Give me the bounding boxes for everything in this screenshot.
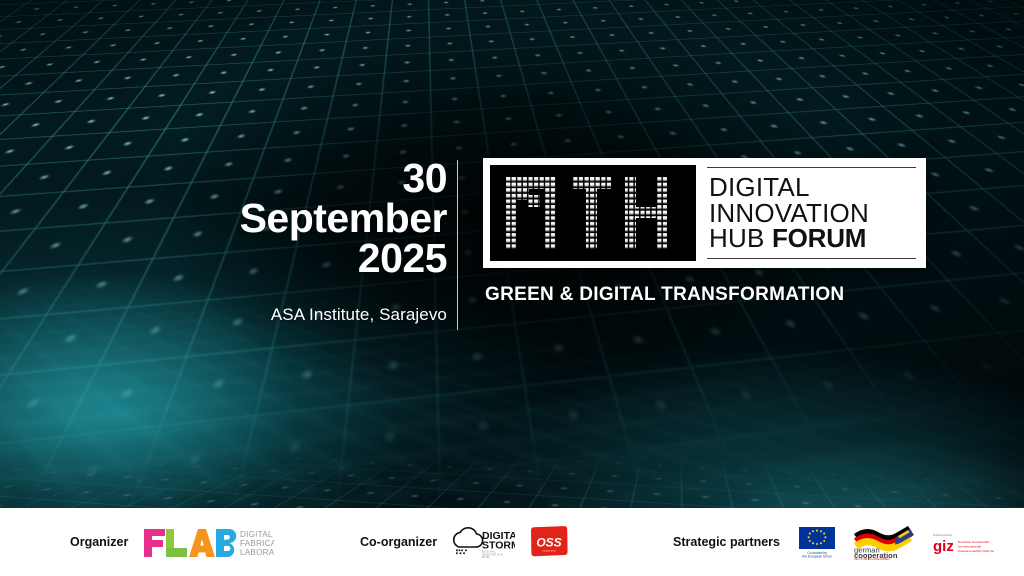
giz-top-caption: Implemented by: [933, 533, 953, 537]
eu-caption-line-2: the European Union: [802, 555, 831, 559]
hero-section: 30 September 2025 ASA Institute, Sarajev…: [0, 158, 1024, 330]
event-banner: 30 September 2025 ASA Institute, Sarajev…: [0, 0, 1024, 576]
event-date: 30 September 2025: [0, 158, 447, 279]
logo-column: DIGITAL INNOVATION HUB FORUM GREEN & DIG…: [483, 158, 953, 306]
forum-lines: DIGITAL INNOVATION HUB FORUM: [707, 173, 916, 253]
forum-line-hub-forum: HUB FORUM: [709, 226, 916, 252]
coorganizer-logos: DIGITAL STORM DIGITAL INNOVATION HUB OSS…: [451, 525, 571, 559]
partner-group-coorganizer: Co-organizer DIGITAL STORM DI: [360, 525, 571, 559]
organizer-label: Organizer: [70, 535, 128, 549]
flab-logo-icon: FLAB DIGITAL FABRICATION LABORATORY: [142, 524, 274, 560]
date-month: September: [0, 198, 447, 238]
forum-forum: FORUM: [772, 223, 866, 253]
dih-mark: [490, 165, 696, 261]
forum-hub: HUB: [709, 223, 765, 253]
german-cooperation-logo-icon: german cooperation DEUTSCHE ZUSAMMENARBE…: [852, 524, 920, 560]
digital-storm-logo-icon: DIGITAL STORM DIGITAL INNOVATION HUB: [451, 525, 515, 559]
date-day: 30: [0, 158, 447, 198]
forum-line-digital: DIGITAL: [709, 175, 916, 201]
flab-sub-line-1: DIGITAL: [240, 530, 273, 539]
flab-sub-line-3: LABORATORY: [240, 548, 274, 557]
forum-wordmark: DIGITAL INNOVATION HUB FORUM: [707, 165, 918, 261]
dih-forum-logo: DIGITAL INNOVATION HUB FORUM: [483, 158, 926, 268]
flab-sub-line-2: FABRICATION: [240, 539, 274, 548]
partner-group-organizer: Organizer FLAB: [70, 524, 274, 560]
oss-wordmark: OSS: [536, 536, 561, 550]
european-union-logo-icon: Co-funded by the European Union: [794, 525, 840, 559]
coorganizer-label: Co-organizer: [360, 535, 437, 549]
event-tagline: GREEN & DIGITAL TRANSFORMATION: [485, 284, 953, 306]
rule-top: [707, 167, 916, 168]
german-cooperation-sub: DEUTSCHE ZUSAMMENARBEIT: [854, 558, 891, 560]
event-date-block: 30 September 2025 ASA Institute, Sarajev…: [0, 158, 447, 325]
giz-side-line-2: für Internationale: [958, 544, 981, 548]
vertical-divider: [457, 160, 458, 330]
dih-dot-matrix-icon: [500, 171, 686, 255]
svg-text:HUB: HUB: [482, 555, 489, 559]
oss-logo-icon: OSS company: [527, 526, 571, 558]
giz-side-line-3: Zusammenarbeit (GIZ) GmbH: [958, 549, 994, 553]
giz-wordmark: giz: [933, 538, 954, 555]
strategic-partners-logos: Co-funded by the European Union german c…: [794, 524, 994, 560]
organizer-logos: FLAB DIGITAL FABRICATION LABORATORY: [142, 524, 274, 560]
giz-side-line-1: Deutsche Gesellschaft: [958, 540, 989, 544]
event-venue: ASA Institute, Sarajevo: [0, 305, 447, 325]
oss-caption: company: [542, 549, 556, 553]
strategic-partners-label: Strategic partners: [673, 535, 780, 549]
partner-group-strategic: Strategic partners Co-funded by the E: [673, 524, 994, 560]
partner-bar: Organizer FLAB: [0, 508, 1024, 576]
date-year: 2025: [0, 238, 447, 278]
rule-bottom: [707, 258, 916, 259]
giz-logo-icon: Implemented by giz Deutsche Gesellschaft…: [932, 527, 994, 557]
